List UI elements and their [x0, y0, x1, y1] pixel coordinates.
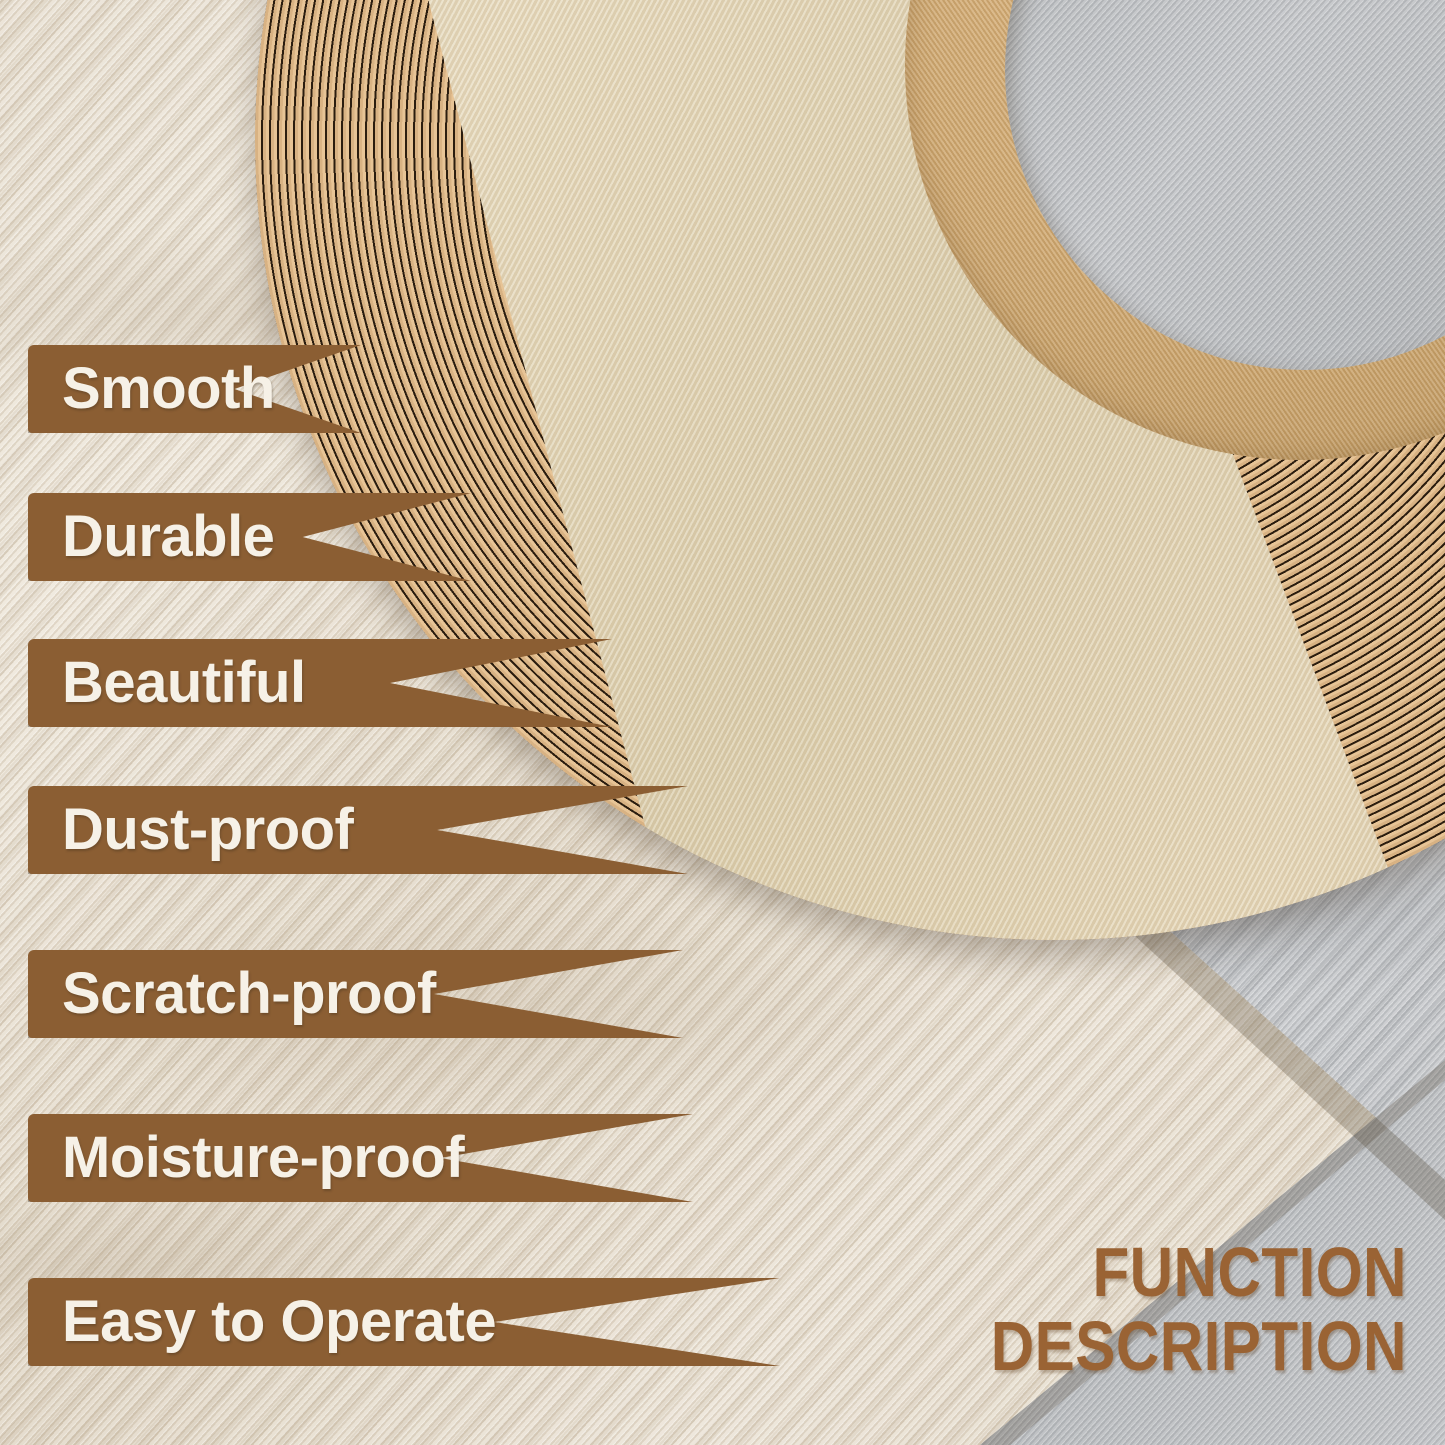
- feature-label: Beautiful: [28, 639, 306, 727]
- feature-ribbon-dust-proof: Dust-proof: [28, 786, 688, 874]
- feature-label: Dust-proof: [28, 786, 353, 874]
- feature-label: Durable: [28, 493, 274, 581]
- feature-ribbon-beautiful: Beautiful: [28, 639, 612, 727]
- feature-ribbon-moisture-proof: Moisture-proof: [28, 1114, 693, 1202]
- feature-ribbon-scratch-proof: Scratch-proof: [28, 950, 683, 1038]
- headline-block: FUNCTION DESCRIPTION: [991, 1235, 1407, 1383]
- headline-line-2: DESCRIPTION: [991, 1309, 1407, 1383]
- headline-line-1: FUNCTION: [991, 1235, 1407, 1309]
- feature-ribbon-durable: Durable: [28, 493, 471, 581]
- feature-label: Easy to Operate: [28, 1278, 496, 1366]
- feature-label: Scratch-proof: [28, 950, 436, 1038]
- feature-label: Moisture-proof: [28, 1114, 464, 1202]
- feature-label: Smooth: [28, 345, 275, 433]
- feature-ribbon-smooth: Smooth: [28, 345, 361, 433]
- product-image-canvas: Smooth Durable Beautiful Dust-proof Scra…: [0, 0, 1445, 1445]
- feature-ribbon-easy-to-operate: Easy to Operate: [28, 1278, 780, 1366]
